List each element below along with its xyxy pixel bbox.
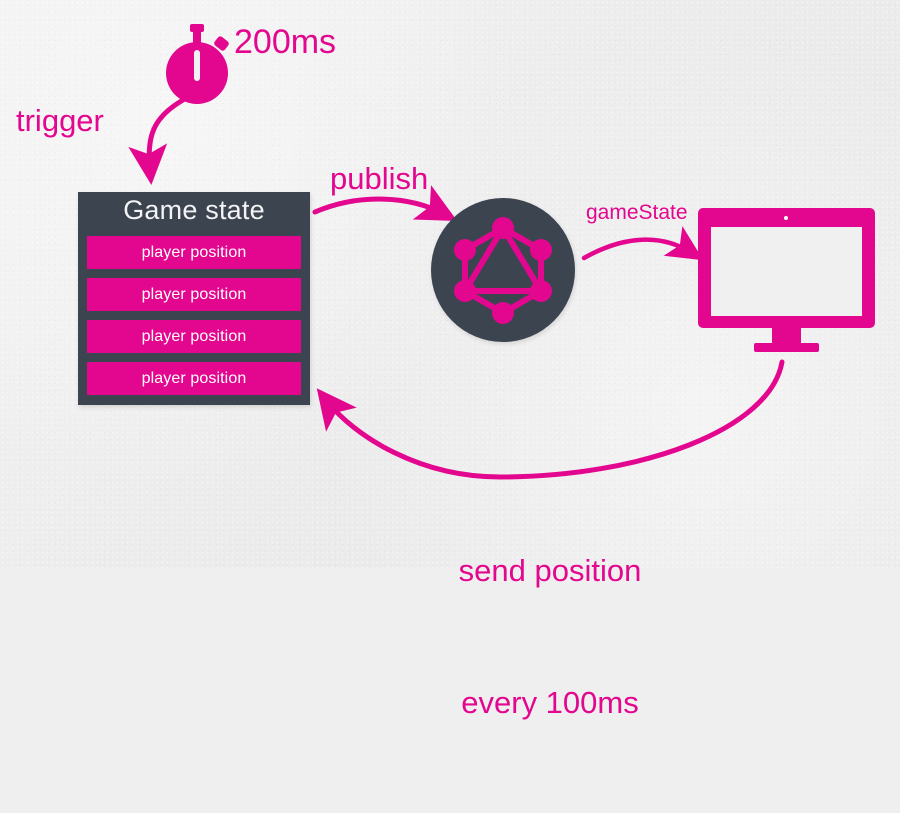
graphql-hub <box>431 198 575 342</box>
diagram-canvas: 200ms trigger Game state player position… <box>0 0 900 568</box>
gamestate-arrow <box>584 240 692 258</box>
trigger-label: trigger <box>16 103 104 139</box>
send-position-label: send position every 100ms <box>400 461 700 813</box>
monitor-base-icon <box>754 343 819 352</box>
gamestate-edge-label: gameState <box>586 201 688 225</box>
publish-arrow <box>315 199 444 214</box>
trigger-arrow <box>149 100 183 170</box>
stopwatch-icon <box>163 24 235 104</box>
send-position-line-1: send position <box>400 549 700 593</box>
list-item: player position <box>87 362 301 395</box>
publish-label: publish <box>330 161 428 197</box>
send-position-arrow <box>326 362 782 477</box>
monitor-icon <box>698 208 875 351</box>
list-item: player position <box>87 236 301 269</box>
timer-interval-label: 200ms <box>234 23 336 62</box>
monitor-screen <box>711 227 862 316</box>
graphql-logo-icon <box>431 198 575 342</box>
send-position-line-2: every 100ms <box>400 681 700 725</box>
webcam-dot-icon <box>784 216 788 220</box>
game-state-title: Game state <box>78 195 310 226</box>
player-position-list: player position player position player p… <box>87 236 301 395</box>
list-item: player position <box>87 278 301 311</box>
monitor-bezel-icon <box>698 208 875 328</box>
game-state-panel: Game state player position player positi… <box>78 192 310 405</box>
stopwatch-hand-icon <box>194 50 200 81</box>
list-item: player position <box>87 320 301 353</box>
